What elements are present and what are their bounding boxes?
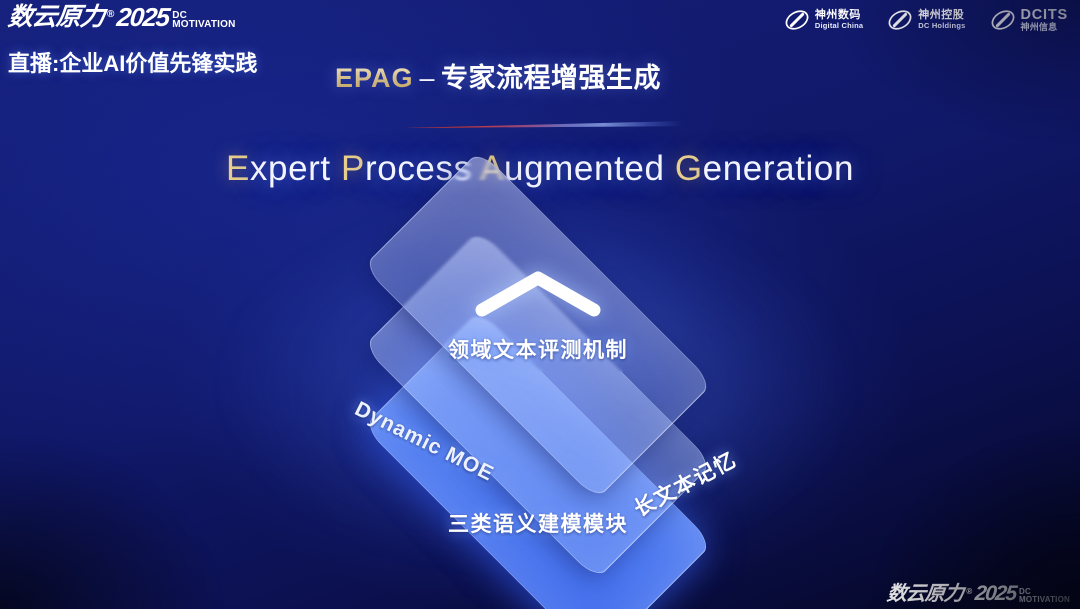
slide-title: EPAG–专家流程增强生成 bbox=[335, 56, 661, 95]
gradient-divider bbox=[397, 121, 683, 128]
swirl-icon bbox=[990, 7, 1016, 33]
corp-name-en: Digital China bbox=[815, 22, 863, 30]
watermark-dc-motivation: DC MOTIVATION bbox=[1019, 588, 1070, 603]
corp-name-en: DC Holdings bbox=[918, 22, 965, 30]
subtitle-capital-6: G bbox=[675, 149, 703, 188]
stack-label-top: 领域文本评测机制 bbox=[448, 334, 628, 364]
slide-canvas: 数云原力 ® 2025 DC MOTIVATION 直播:企业AI价值先锋实践 … bbox=[0, 0, 1080, 609]
subtitle-capital-2: P bbox=[341, 149, 365, 188]
subtitle-capital-0: E bbox=[226, 149, 250, 188]
slide-title-separator: – bbox=[420, 63, 436, 93]
watermark-cjk: 数云原力 bbox=[886, 584, 964, 604]
stack-label-bottom: 三类语义建模模块 bbox=[448, 508, 628, 538]
corp-logo-dc-holdings: 神州控股 DC Holdings bbox=[887, 7, 965, 33]
brand-logo-motivation: MOTIVATION bbox=[172, 20, 235, 29]
brand-logo-dc-motivation: DC MOTIVATION bbox=[172, 11, 235, 29]
slide-title-chinese: 专家流程增强生成 bbox=[441, 63, 661, 93]
swirl-icon bbox=[784, 7, 810, 33]
layered-stack-diagram: 领域文本评测机制 Dynamic MOE 长文本记忆 三类语义建模模块 bbox=[278, 228, 798, 568]
brand-logo-cjk: 数云原力 bbox=[7, 5, 106, 30]
subtitle-text-5: ugmented bbox=[504, 149, 675, 188]
slide-title-acronym: EPAG bbox=[335, 63, 414, 93]
subtitle-text-1: xpert bbox=[250, 149, 341, 188]
corp-logo-dcits: DCITS 神州信息 bbox=[990, 7, 1069, 33]
watermark-motivation: MOTIVATION bbox=[1019, 596, 1070, 603]
watermark-year: 2025 bbox=[974, 583, 1017, 604]
swirl-icon bbox=[887, 7, 913, 33]
corp-logo-text: 神州控股 DC Holdings bbox=[918, 10, 965, 29]
corp-logo-text: DCITS 神州信息 bbox=[1021, 8, 1069, 33]
english-subtitle: Expert Process Augmented Generation bbox=[0, 149, 1080, 189]
watermark-logo: 数云原力 ® 2025 DC MOTIVATION bbox=[887, 583, 1070, 604]
corp-name-cn: DCITS bbox=[1021, 8, 1069, 23]
live-broadcast-label: 直播:企业AI价值先锋实践 bbox=[8, 46, 257, 78]
corp-logo-text: 神州数码 Digital China bbox=[815, 10, 863, 29]
corp-name-en: 神州信息 bbox=[1021, 23, 1069, 32]
subtitle-text-7: eneration bbox=[703, 149, 854, 188]
brand-logo-registered: ® bbox=[107, 10, 114, 20]
watermark-registered: ® bbox=[966, 588, 972, 596]
corporate-logo-group: 神州数码 Digital China 神州控股 DC Holdings bbox=[784, 7, 1068, 33]
brand-logo: 数云原力 ® 2025 DC MOTIVATION bbox=[8, 4, 236, 30]
brand-logo-year: 2025 bbox=[116, 4, 171, 30]
corp-logo-digital-china: 神州数码 Digital China bbox=[784, 7, 863, 33]
